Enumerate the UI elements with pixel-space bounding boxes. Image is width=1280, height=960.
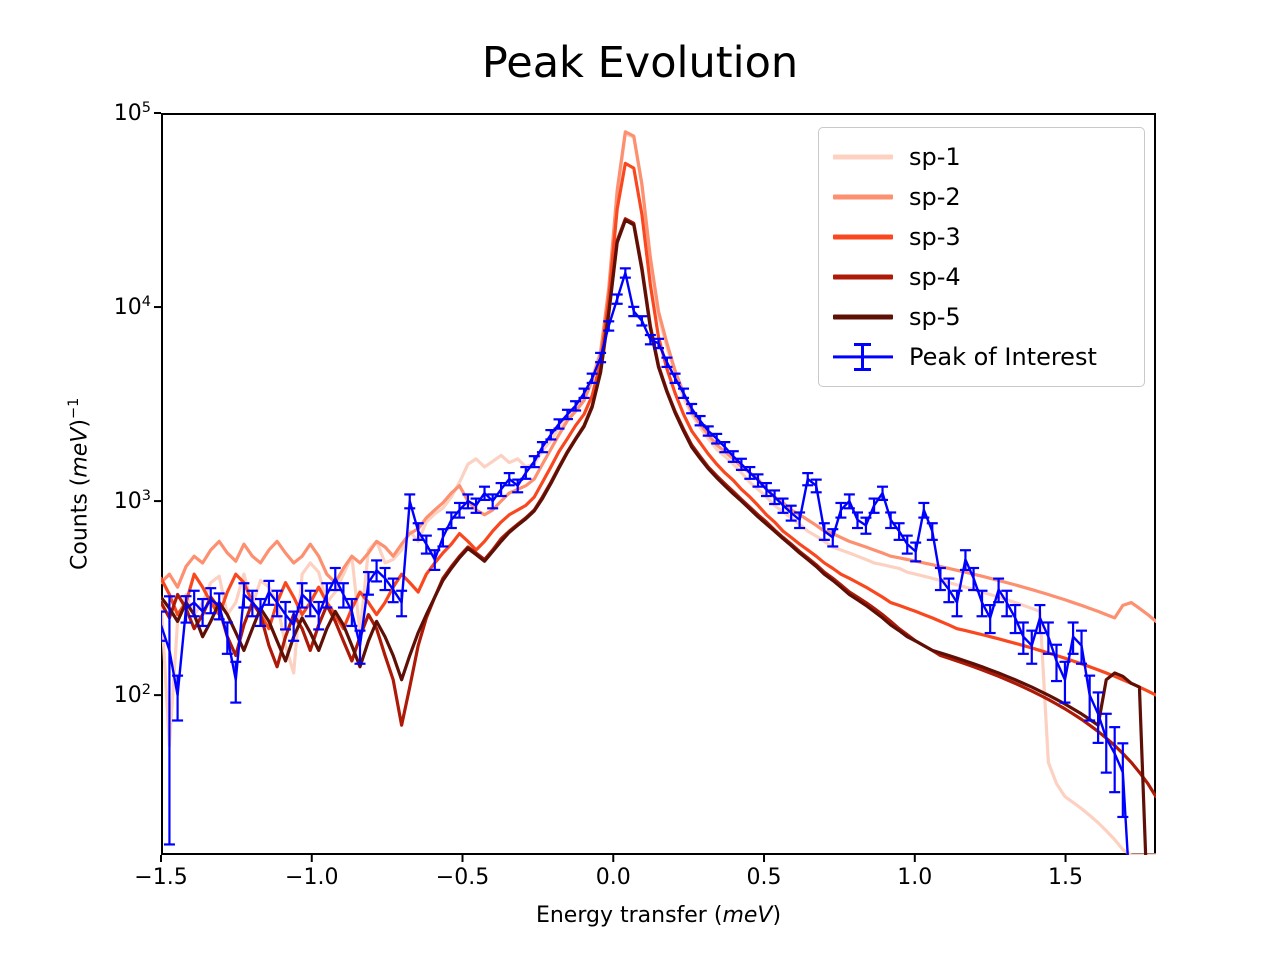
x-tick-label: −0.5 [436,865,489,890]
legend-item-sp-3[interactable]: sp-3 [831,217,1132,257]
legend-item-sp-4[interactable]: sp-4 [831,257,1132,297]
chart-title: Peak Evolution [0,40,1280,87]
y-axis-label: Counts (meV)−1 [66,398,92,570]
legend-swatch-icon [831,177,895,217]
legend-swatch-icon [831,217,895,257]
y-tick-label: 105 [97,100,151,126]
legend-label: sp-3 [909,223,961,251]
x-tick-label: 0.0 [596,865,631,890]
legend-swatch-icon [831,137,895,177]
legend-swatch-icon [831,337,895,377]
x-tick-label: 0.5 [747,865,782,890]
x-axis-label: Energy transfer (meV) [161,903,1156,928]
x-tick-label: −1.5 [134,865,187,890]
legend-swatch-icon [831,297,895,337]
legend-swatch-icon [831,257,895,297]
y-tick-label: 103 [97,488,151,514]
legend-label: sp-2 [909,183,961,211]
legend-item-sp-2[interactable]: sp-2 [831,177,1132,217]
x-tick-label: −1.0 [285,865,338,890]
y-tick-label: 102 [97,682,151,708]
legend-item-sp-1[interactable]: sp-1 [831,137,1132,177]
figure-canvas: Peak Evolution Counts (meV)−1 Energy tra… [0,0,1280,960]
legend-label: Peak of Interest [909,343,1097,371]
x-tick-label: 1.0 [897,865,932,890]
legend-label: sp-1 [909,143,961,171]
legend-item-sp-5[interactable]: sp-5 [831,297,1132,337]
legend-label: sp-4 [909,263,961,291]
x-tick-label: 1.5 [1048,865,1083,890]
legend-label: sp-5 [909,303,961,331]
y-tick-label: 104 [97,294,151,320]
legend-item-peak-of-interest[interactable]: Peak of Interest [831,337,1132,377]
chart-legend[interactable]: sp-1sp-2sp-3sp-4sp-5Peak of Interest [818,127,1145,387]
